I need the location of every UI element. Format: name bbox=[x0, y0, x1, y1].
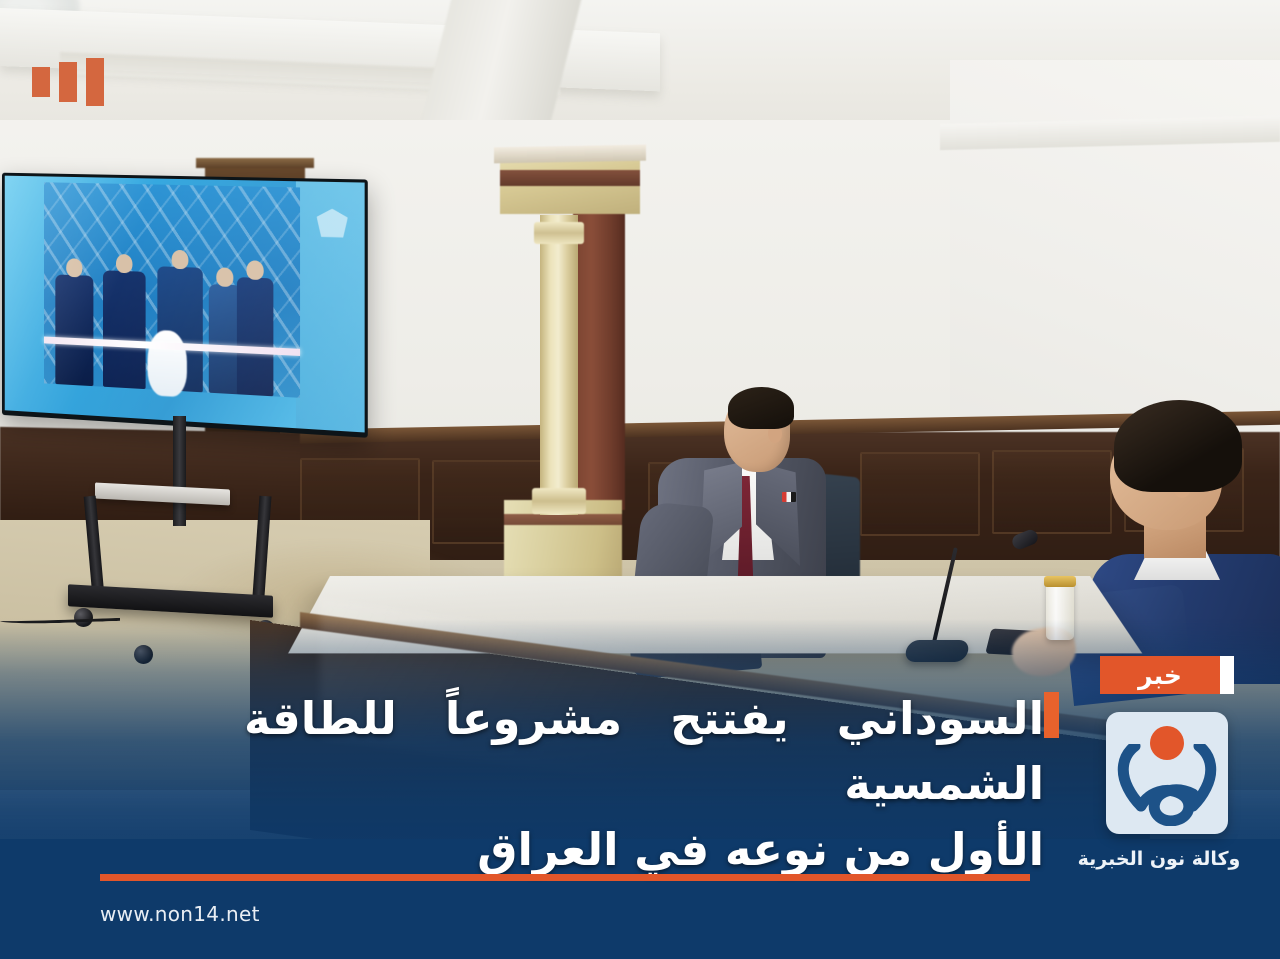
figure-head-icon bbox=[66, 258, 82, 277]
ceremony-officials bbox=[44, 255, 300, 398]
column-shaft bbox=[540, 215, 578, 515]
wainscot-panel bbox=[860, 452, 980, 536]
column-dark-shaft bbox=[573, 200, 625, 510]
headline: السوداني يفتتح مشروعاً للطاقة الشمسية ال… bbox=[244, 686, 1044, 882]
figure-head-icon bbox=[172, 250, 189, 270]
three-bars-watermark bbox=[32, 58, 104, 106]
news-category-badge: خبر bbox=[1100, 656, 1220, 694]
watermark-bar bbox=[86, 58, 104, 106]
badge-label: خبر bbox=[1138, 663, 1182, 688]
ceremony-photo bbox=[44, 182, 300, 398]
column-lower-ring bbox=[532, 488, 586, 514]
column-abacus bbox=[494, 145, 646, 164]
footer-divider bbox=[100, 874, 1030, 881]
glass-gold-rim bbox=[1044, 576, 1076, 587]
headline-line-2: الأول من نوعه في العراق bbox=[244, 817, 1044, 882]
official-figure bbox=[237, 277, 274, 396]
noon-letterform-icon bbox=[1115, 744, 1219, 826]
column-upper-ring bbox=[534, 222, 584, 244]
flag-lapel-pin-icon bbox=[782, 492, 796, 502]
display-panel bbox=[5, 176, 365, 433]
official-figure bbox=[55, 274, 93, 386]
figure-head-icon bbox=[216, 267, 233, 287]
watermark-bar bbox=[32, 67, 50, 97]
ribbon-knot bbox=[148, 330, 187, 398]
hair bbox=[728, 387, 794, 429]
website-url: www.non14.net bbox=[100, 902, 260, 926]
official-figure bbox=[103, 270, 146, 389]
agency-name: وكالة نون الخبرية bbox=[1038, 848, 1280, 870]
display-stand-neck bbox=[173, 416, 186, 526]
figure-head-icon bbox=[246, 260, 263, 280]
badge-white-tab bbox=[1220, 656, 1234, 694]
agency-logo bbox=[1106, 712, 1228, 834]
headline-line-1: السوداني يفتتح مشروعاً للطاقة الشمسية bbox=[244, 686, 1044, 817]
watermark-bar bbox=[59, 62, 77, 102]
doorway-frame bbox=[196, 158, 314, 168]
news-card: السوداني يفتتح مشروعاً للطاقة الشمسية ال… bbox=[0, 0, 1280, 959]
headline-accent-bar bbox=[1044, 692, 1059, 738]
figure-head-icon bbox=[116, 254, 132, 273]
wall-display-screen bbox=[2, 173, 368, 438]
hair bbox=[1114, 400, 1242, 492]
